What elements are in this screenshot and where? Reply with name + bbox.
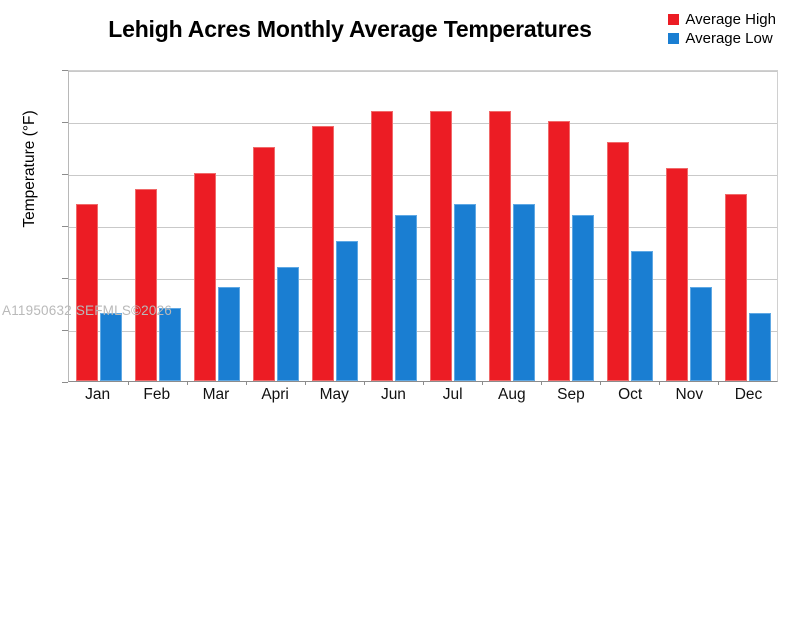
x-axis-tick-label: Nov [660, 386, 719, 404]
bar-group [128, 71, 187, 381]
bar-average-high [725, 194, 747, 381]
temperature-bar-chart: Lehigh Acres Monthly Average Temperature… [0, 0, 788, 627]
x-axis-tick-label: Oct [601, 386, 660, 404]
bar-group [482, 71, 541, 381]
y-axis-tick-mark [62, 70, 68, 71]
bar-average-high [607, 142, 629, 381]
y-axis-tick-mark [62, 330, 68, 331]
bar-average-high [194, 173, 216, 381]
bar-average-high [253, 147, 275, 381]
bar-average-high [312, 126, 334, 381]
y-axis-tick-mark [62, 226, 68, 227]
bar-average-low [395, 215, 417, 381]
bar-average-high [371, 111, 393, 381]
bar-group [600, 71, 659, 381]
bar-average-high [489, 111, 511, 381]
bar-group [423, 71, 482, 381]
bar-average-low [690, 287, 712, 381]
bar-average-low [100, 313, 122, 381]
bar-average-low [513, 204, 535, 381]
x-axis-tick-labels: JanFebMarApriMayJunJulAugSepOctNovDec [68, 386, 778, 404]
legend-label-average-high: Average High [685, 12, 776, 27]
bar-average-low [218, 287, 240, 381]
x-axis-tick-label: Jul [423, 386, 482, 404]
bar-group [718, 71, 777, 381]
x-axis-tick-label: Mar [186, 386, 245, 404]
bar-average-low [159, 308, 181, 381]
y-axis-tick-mark [62, 278, 68, 279]
legend-item-average-low: Average Low [668, 31, 776, 46]
legend-swatch-average-low [668, 33, 679, 44]
legend-item-average-high: Average High [668, 12, 776, 27]
x-axis-tick-label: Jan [68, 386, 127, 404]
bar-group [187, 71, 246, 381]
x-axis-tick-label: Sep [541, 386, 600, 404]
bar-group [541, 71, 600, 381]
chart-legend: Average High Average Low [668, 12, 776, 46]
bar-average-high [548, 121, 570, 381]
y-axis-title: Temperature (°F) [21, 49, 39, 289]
chart-title: Lehigh Acres Monthly Average Temperature… [60, 16, 640, 43]
bar-group [246, 71, 305, 381]
y-axis-tick-mark [62, 382, 68, 383]
bar-average-low [572, 215, 594, 381]
bar-average-low [749, 313, 771, 381]
x-axis-tick-label: Jun [364, 386, 423, 404]
x-axis-tick-label: Apri [246, 386, 305, 404]
bar-average-high [76, 204, 98, 381]
y-axis-tick-mark [62, 174, 68, 175]
bar-average-low [277, 267, 299, 381]
x-axis-tick-label: Dec [719, 386, 778, 404]
bar-groups [69, 71, 777, 381]
bar-average-low [336, 241, 358, 381]
x-axis-tick-label: Feb [127, 386, 186, 404]
bar-average-low [454, 204, 476, 381]
x-axis-tick-label: Aug [482, 386, 541, 404]
legend-label-average-low: Average Low [685, 31, 772, 46]
bar-group [659, 71, 718, 381]
bar-average-high [135, 189, 157, 381]
bar-group [364, 71, 423, 381]
bar-average-high [666, 168, 688, 381]
plot-area [68, 70, 778, 382]
x-axis-tick-label: May [305, 386, 364, 404]
bar-average-high [430, 111, 452, 381]
legend-swatch-average-high [668, 14, 679, 25]
bar-group [69, 71, 128, 381]
bar-group [305, 71, 364, 381]
y-axis-tick-mark [62, 122, 68, 123]
bar-average-low [631, 251, 653, 381]
